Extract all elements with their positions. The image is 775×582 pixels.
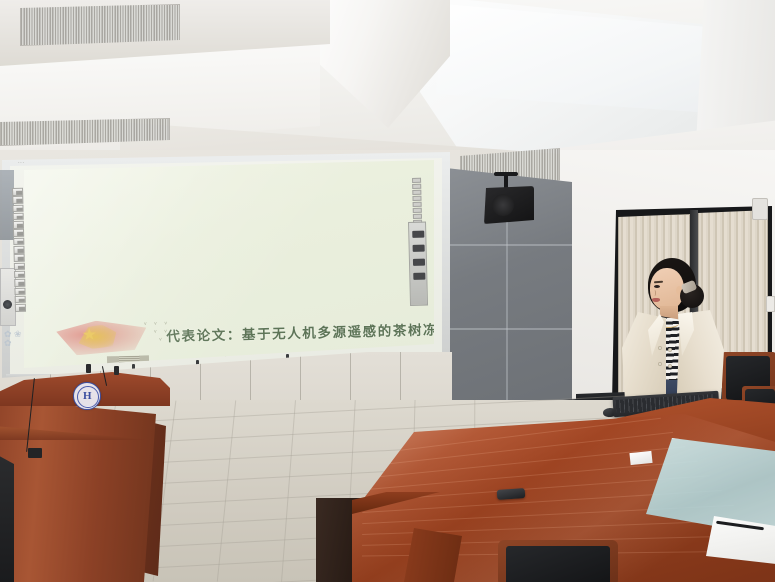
mouth <box>652 298 660 302</box>
air-vent-icon <box>20 4 180 46</box>
settings-icon[interactable] <box>14 279 25 287</box>
menu-icon <box>413 273 425 280</box>
blazer-button <box>668 348 672 352</box>
save-icon[interactable] <box>14 262 25 270</box>
undo-icon[interactable] <box>13 237 24 245</box>
toolbar-button[interactable] <box>412 190 421 195</box>
toolbar-button[interactable] <box>412 184 421 189</box>
light-switch-icon[interactable] <box>766 296 775 312</box>
nose <box>652 290 656 296</box>
highlighter-icon[interactable] <box>12 204 23 212</box>
select-icon[interactable] <box>12 188 23 196</box>
blazer-button <box>658 346 662 350</box>
cable-junction-box <box>28 448 42 458</box>
podium-front <box>0 398 156 582</box>
projection-screen[interactable]: ᵛ ᵛ ᵛ ᵛ ᵛ ᵛ 代表论文：基于无人机多源遥感的茶树冻害快速监测研究 EL… <box>24 160 434 368</box>
toolbar-button[interactable] <box>412 178 421 183</box>
toolbar-button[interactable] <box>413 208 422 213</box>
blazer-button <box>658 362 662 366</box>
microphone-clip <box>86 364 91 373</box>
eye <box>654 285 660 288</box>
presentation-remote[interactable] <box>497 488 526 500</box>
pen-icon[interactable] <box>12 196 23 204</box>
power-icon <box>412 231 424 238</box>
whiteboard-sensor-icon <box>3 300 12 309</box>
redo-icon[interactable] <box>13 246 24 254</box>
color-icon[interactable] <box>15 296 26 304</box>
podium-shadow-side <box>0 452 14 582</box>
toolbar-button[interactable] <box>413 202 422 207</box>
conference-room-scene: ··· ✿ ❀✿ ᵛ ᵛ ᵛ ᵛ ᵛ ᵛ 代表论文：基于无人机多源遥感的茶树冻害… <box>0 0 775 582</box>
grid-icon[interactable] <box>14 287 25 295</box>
blazer-button <box>668 364 672 368</box>
whiteboard-control-panel[interactable] <box>408 222 428 306</box>
speaker-mount-rod <box>504 175 508 189</box>
wall-outlet-icon[interactable] <box>752 198 768 220</box>
text-icon[interactable] <box>13 229 24 237</box>
source-icon <box>413 245 425 252</box>
speaker-cone-icon <box>492 194 514 216</box>
toolbar-button[interactable] <box>412 196 421 201</box>
emblem-letter: H <box>83 391 93 403</box>
floor-tile-line <box>281 400 296 582</box>
shape-icon[interactable] <box>13 221 24 229</box>
university-emblem: H <box>73 382 101 410</box>
eraser-icon[interactable] <box>13 213 24 221</box>
close-icon[interactable] <box>15 304 26 312</box>
floor-tile-line <box>217 400 236 581</box>
volume-icon <box>413 259 425 266</box>
camera-icon[interactable] <box>14 271 25 279</box>
paper-note[interactable] <box>629 451 652 465</box>
page-icon[interactable] <box>14 254 25 262</box>
chair-foreground[interactable] <box>498 540 618 582</box>
table-pedestal <box>404 528 462 582</box>
microphone-clip <box>114 366 119 375</box>
toolbar-button[interactable] <box>413 214 422 219</box>
whiteboard-brand-label: ··· <box>18 160 25 166</box>
